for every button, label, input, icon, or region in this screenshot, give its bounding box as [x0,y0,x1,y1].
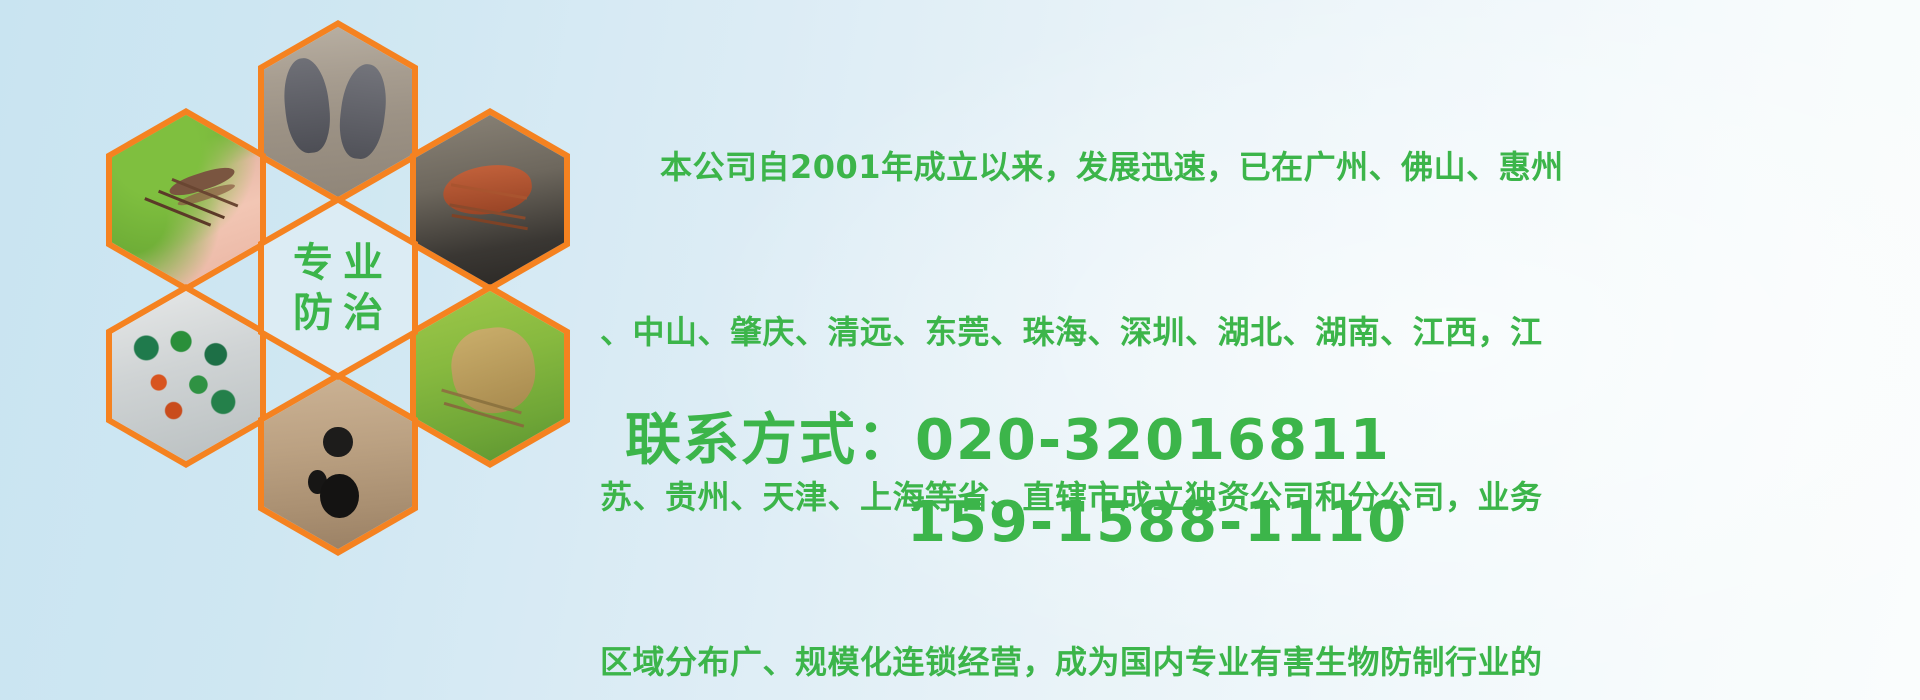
mosquito-photo [112,115,260,285]
contact-phone-2[interactable]: 159-1588-1110 [625,482,1408,564]
flies-photo [112,291,260,461]
hexagon-inner: 专业 防治 [264,203,412,373]
hexagon-inner [112,115,260,285]
company-intro-paragraph: 本公司自2001年成立以来，发展迅速，已在广州、佛山、惠州 、中山、肇庆、清远、… [600,30,1890,700]
intro-line-1: 本公司自2001年成立以来，发展迅速，已在广州、佛山、惠州 [600,140,1890,195]
hexagon-inner [416,115,564,285]
pest-control-banner: 专业 防治 本公司自2001年成立以来，发展迅速，已在广州、佛山、惠州 、中山、… [0,0,1920,700]
hexagon-ant [258,372,418,556]
hexagon-inner [264,379,412,549]
slogan-line-2: 防治 [283,288,393,338]
hexagon-flies [106,284,266,468]
stinkbug-photo [416,291,564,461]
ant-photo [264,379,412,549]
intro-line-2: 、中山、肇庆、清远、东莞、珠海、深圳、湖北、湖南、江西，江 [600,305,1890,360]
hexagon-stinkbug [410,284,570,468]
hexagon-mosquito [106,108,266,292]
rats-photo [264,27,412,197]
intro-line-4: 区域分布广、规模化连锁经营，成为国内专业有害生物防制行业的 [600,635,1890,690]
hexagon-inner [264,27,412,197]
hexagon-rats [258,20,418,204]
hexagon-inner [112,291,260,461]
contact-block: 联系方式：020-32016811 159-1588-1110 [625,400,1408,564]
intro-text: 本公司自2001年成立以来，发展迅速，已在广州、佛山、惠州 、中山、肇庆、清远、… [600,30,1890,700]
hexagon-inner [416,291,564,461]
hexagon-slogan: 专业 防治 [258,196,418,380]
honeycomb-logo: 专业 防治 [78,8,598,568]
contact-label-and-phone-1[interactable]: 联系方式：020-32016811 [625,400,1408,482]
slogan-line-1: 专业 [283,238,393,288]
cockroach-photo [416,115,564,285]
hexagon-cockroach [410,108,570,292]
